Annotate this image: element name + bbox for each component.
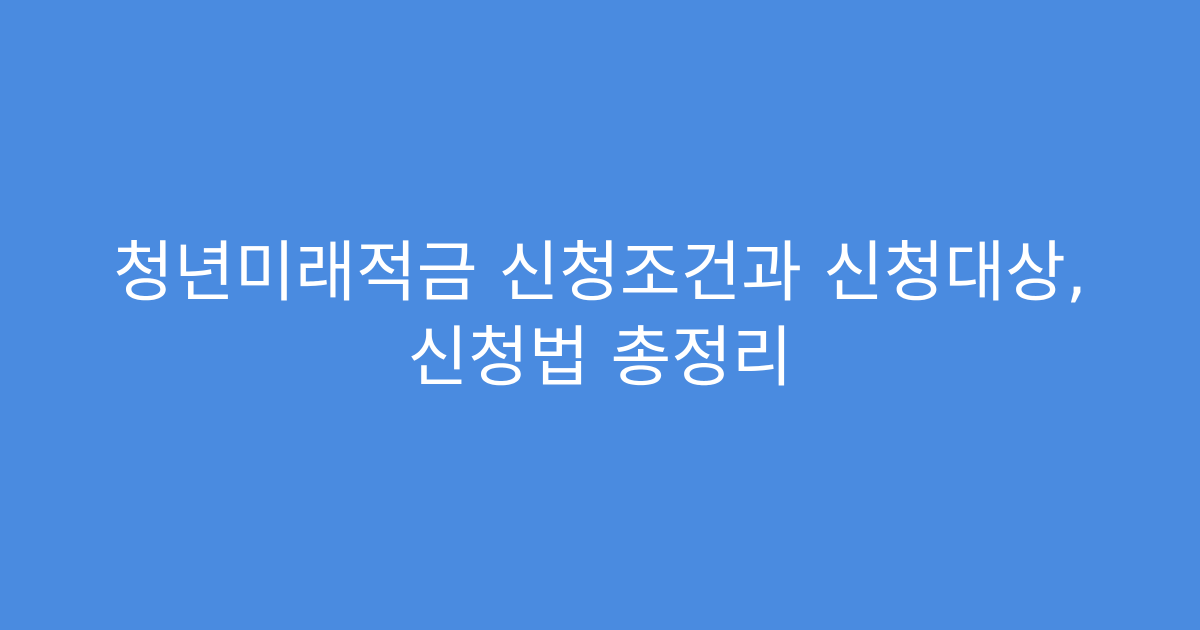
thumbnail-card: 청년미래적금 신청조건과 신청대상, 신청법 총정리 [0,0,1200,630]
title-line-1: 청년미래적금 신청조건과 신청대상, [40,230,1160,315]
page-title: 청년미래적금 신청조건과 신청대상, 신청법 총정리 [40,230,1160,400]
title-line-2: 신청법 총정리 [40,315,1160,400]
